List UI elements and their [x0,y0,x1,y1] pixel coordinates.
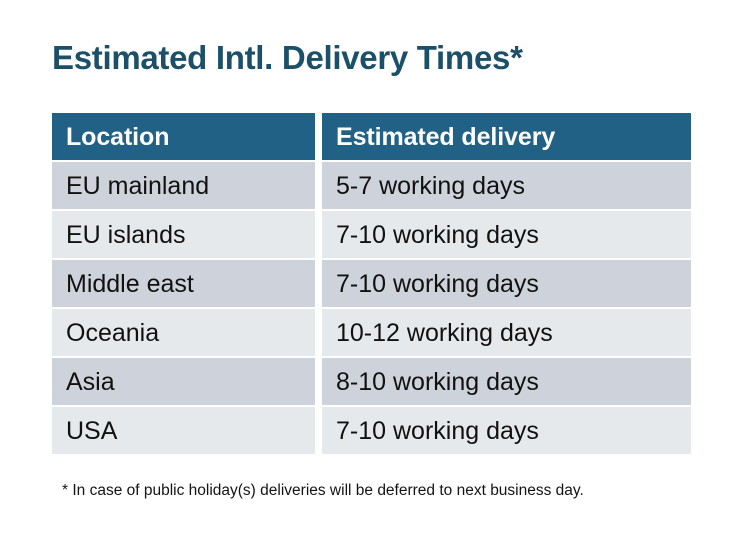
column-header-estimated-delivery: Estimated delivery [322,113,691,160]
delivery-times-page: Estimated Intl. Delivery Times* Location… [0,0,745,536]
table-row: Middle east 7-10 working days [52,260,691,307]
table-row: Oceania 10-12 working days [52,309,691,356]
cell-location: EU islands [52,211,315,258]
cell-estimated-delivery: 7-10 working days [322,407,691,454]
cell-location: Oceania [52,309,315,356]
cell-location: EU mainland [52,162,315,209]
table-row: EU mainland 5-7 working days [52,162,691,209]
cell-location: Middle east [52,260,315,307]
table-row: Asia 8-10 working days [52,358,691,405]
table-header-row: Location Estimated delivery [52,113,691,160]
table-row: USA 7-10 working days [52,407,691,454]
cell-estimated-delivery: 10-12 working days [322,309,691,356]
footnote-text: * In case of public holiday(s) deliverie… [62,481,584,501]
delivery-times-table: Location Estimated delivery EU mainland … [52,113,691,454]
table-row: EU islands 7-10 working days [52,211,691,258]
cell-estimated-delivery: 7-10 working days [322,211,691,258]
cell-estimated-delivery: 5-7 working days [322,162,691,209]
cell-location: Asia [52,358,315,405]
cell-location: USA [52,407,315,454]
cell-estimated-delivery: 8-10 working days [322,358,691,405]
column-header-location: Location [52,113,315,160]
cell-estimated-delivery: 7-10 working days [322,260,691,307]
page-title: Estimated Intl. Delivery Times* [52,37,523,79]
